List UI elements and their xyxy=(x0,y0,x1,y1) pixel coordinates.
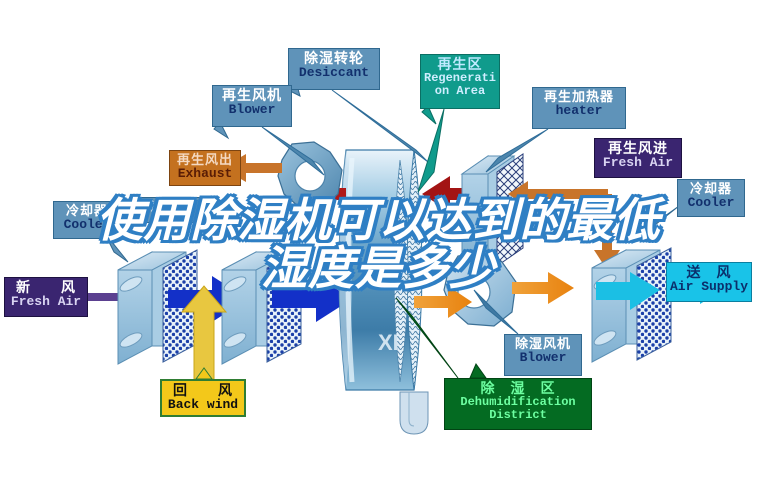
label-regeneration-area: 再生区Regeneration Area xyxy=(420,54,500,109)
label-regen-blower-en: Blower xyxy=(216,103,288,117)
label-desiccant-wheel: 除湿转轮Desiccant xyxy=(288,48,380,90)
label-back-wind: 回 风Back wind xyxy=(160,379,246,417)
label-regeneration-area-en-2: on Area xyxy=(424,85,496,98)
label-desiccant-wheel-cn: 除湿转轮 xyxy=(292,51,376,66)
label-regen-exhaust: 再生风出Exhaust xyxy=(169,150,241,186)
label-fresh-air-regen-en: Fresh Air xyxy=(598,156,678,170)
page-title: 使用除湿机可以达到的最低 湿度是多少 xyxy=(0,196,757,292)
label-regen-exhaust-cn: 再生风出 xyxy=(173,153,237,167)
title-line-2: 湿度是多少 xyxy=(0,244,757,292)
label-dehum-district-cn: 除 湿 区 xyxy=(448,381,588,396)
label-regen-heater-cn: 再生加热器 xyxy=(536,90,622,104)
label-dehum-blower-en: Blower xyxy=(508,351,578,365)
label-regen-blower-cn: 再生风机 xyxy=(216,88,288,103)
label-back-wind-cn: 回 风 xyxy=(165,383,241,398)
label-desiccant-wheel-en: Desiccant xyxy=(292,66,376,80)
label-regen-heater: 再生加热器heater xyxy=(532,87,626,129)
title-line-1: 使用除湿机可以达到的最低 xyxy=(0,196,757,244)
label-fresh-air-main-en: Fresh Air xyxy=(8,295,84,309)
label-dehum-district: 除 湿 区DehumidificationDistrict xyxy=(444,378,592,430)
condensate-drain xyxy=(400,392,428,434)
label-back-wind-en: Back wind xyxy=(165,398,241,412)
label-fresh-air-regen: 再生风进Fresh Air xyxy=(594,138,682,178)
dehumidifier-diagram: XI 除湿转轮Desiccant再生风机Blower再生风出Exhaust再生区… xyxy=(0,0,757,488)
watermark: XI xyxy=(378,330,399,356)
label-regen-heater-en: heater xyxy=(536,104,622,118)
label-cooler-right-cn: 冷却器 xyxy=(681,182,741,196)
label-fresh-air-regen-cn: 再生风进 xyxy=(598,141,678,156)
label-regeneration-area-cn: 再生区 xyxy=(424,57,496,72)
label-dehum-blower: 除湿风机Blower xyxy=(504,334,582,376)
label-dehum-blower-cn: 除湿风机 xyxy=(508,337,578,351)
label-regen-blower: 再生风机Blower xyxy=(212,85,292,127)
label-regen-exhaust-en: Exhaust xyxy=(173,167,237,181)
label-dehum-district-en-2: District xyxy=(448,409,588,422)
